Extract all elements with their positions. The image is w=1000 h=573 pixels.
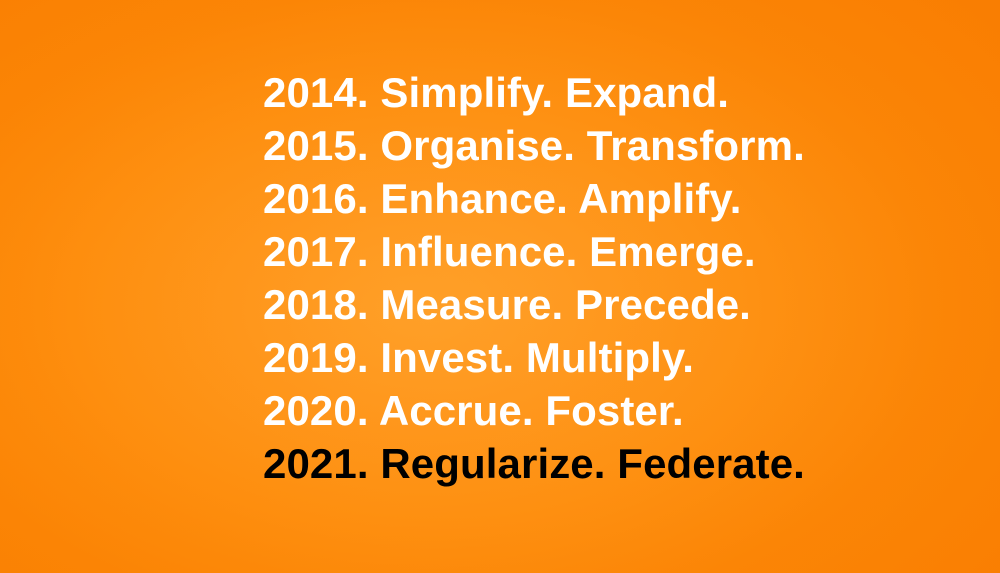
timeline-line-2020: 2020. Accrue. Foster.: [263, 384, 1000, 437]
timeline-line-2019: 2019. Invest. Multiply.: [263, 331, 1000, 384]
timeline-line-2017: 2017. Influence. Emerge.: [263, 225, 1000, 278]
timeline-line-2015: 2015. Organise. Transform.: [263, 119, 1000, 172]
timeline-text-block: 2014. Simplify. Expand. 2015. Organise. …: [263, 66, 1000, 490]
timeline-line-2016: 2016. Enhance. Amplify.: [263, 172, 1000, 225]
presentation-slide: 2014. Simplify. Expand. 2015. Organise. …: [0, 0, 1000, 573]
timeline-line-2021: 2021. Regularize. Federate.: [263, 437, 1000, 490]
timeline-line-2014: 2014. Simplify. Expand.: [263, 66, 1000, 119]
timeline-line-2018: 2018. Measure. Precede.: [263, 278, 1000, 331]
